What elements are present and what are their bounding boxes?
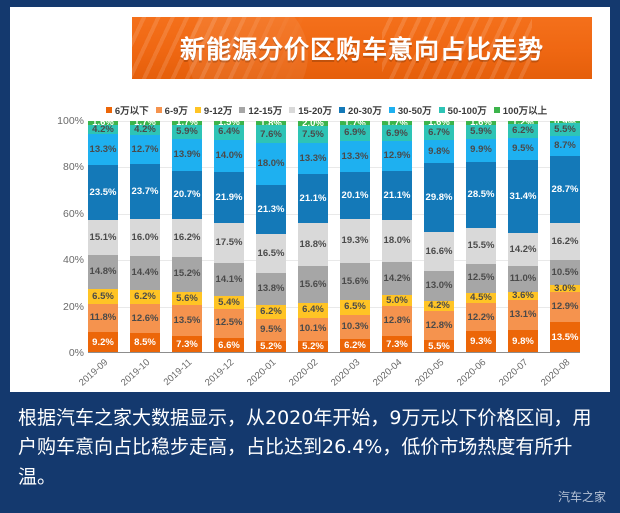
- stacked-bars: 9.2%11.8%6.5%14.8%15.1%23.5%13.3%4.2%1.6…: [88, 121, 580, 353]
- bar-segment[interactable]: 13.1%: [508, 300, 538, 330]
- bar-segment[interactable]: 5.0%: [382, 295, 412, 307]
- bar-segment[interactable]: 23.5%: [88, 165, 118, 220]
- bar-segment[interactable]: 12.7%: [130, 135, 160, 164]
- x-axis-tick: 2019-10: [130, 355, 160, 399]
- bar-segment[interactable]: 13.3%: [88, 134, 118, 165]
- watermark-label: 汽车之家: [558, 488, 606, 505]
- bar-segment[interactable]: 18.8%: [298, 223, 328, 267]
- legend-item[interactable]: 30-50万: [389, 103, 432, 117]
- bar-segment[interactable]: 4.2%: [424, 301, 454, 311]
- bar-segment[interactable]: 14.2%: [382, 262, 412, 295]
- legend-item[interactable]: 15-20万: [289, 103, 332, 117]
- legend-swatch-icon: [389, 107, 395, 113]
- bar-segment[interactable]: 14.0%: [214, 140, 244, 172]
- bar-segment[interactable]: 13.5%: [172, 305, 202, 336]
- x-axis-tick: 2019-09: [88, 355, 118, 399]
- legend-item[interactable]: 9-12万: [195, 103, 233, 117]
- x-axis-labels: 2019-092019-102019-112019-122020-012020-…: [88, 355, 580, 399]
- bar-segment[interactable]: 9.2%: [88, 332, 118, 353]
- legend-item[interactable]: 100万以上: [494, 103, 547, 117]
- bar-segment[interactable]: 21.3%: [256, 185, 286, 234]
- legend-swatch-icon: [106, 107, 112, 113]
- legend-item-label: 9-12万: [204, 103, 233, 117]
- bar-segment[interactable]: 12.9%: [550, 292, 580, 322]
- y-axis-tick-label: 100%: [57, 115, 84, 127]
- y-axis-tick-label: 20%: [63, 301, 84, 313]
- bar-segment[interactable]: 16.2%: [550, 223, 580, 261]
- legend-item-label: 12-15万: [248, 103, 282, 117]
- bar-segment[interactable]: 6.7%: [424, 125, 454, 141]
- x-axis-tick-label: 2020-07: [497, 357, 530, 389]
- bar-segment[interactable]: 29.8%: [424, 163, 454, 232]
- bar-segment[interactable]: 18.0%: [256, 143, 286, 185]
- bar-segment[interactable]: 6.5%: [88, 289, 118, 304]
- bar-segment[interactable]: 12.9%: [382, 141, 412, 171]
- bar-segment[interactable]: 7.6%: [256, 125, 286, 143]
- legend-item-label: 15-20万: [298, 103, 332, 117]
- legend-swatch-icon: [239, 107, 245, 113]
- infographic-page: 新能源分价区购车意向占比走势 6万以下6-9万9-12万12-15万15-20万…: [0, 0, 620, 513]
- bar-segment[interactable]: 7.5%: [298, 126, 328, 143]
- bar-column[interactable]: 9.2%11.8%6.5%14.8%15.1%23.5%13.3%4.2%1.6…: [88, 121, 118, 353]
- x-axis-tick: 2020-03: [340, 355, 370, 399]
- bar-segment[interactable]: 9.9%: [466, 139, 496, 162]
- bar-column[interactable]: 13.5%12.9%3.0%10.5%16.2%28.7%8.7%5.5%0.9…: [550, 121, 580, 353]
- plot-area: 9.2%11.8%6.5%14.8%15.1%23.5%13.3%4.2%1.6…: [88, 121, 580, 353]
- caption-text: 根据汽车之家大数据显示，从2020年开始，9万元以下价格区间，用户购车意向占比稳…: [18, 404, 603, 492]
- bar-segment[interactable]: 20.1%: [340, 172, 370, 219]
- bar-segment[interactable]: 6.9%: [340, 125, 370, 141]
- y-axis-tick-label: 0%: [69, 347, 84, 359]
- bar-segment[interactable]: 13.5%: [550, 322, 580, 353]
- x-axis-tick: 2020-04: [382, 355, 412, 399]
- x-axis-tick: 2020-02: [298, 355, 328, 399]
- bar-segment[interactable]: 12.8%: [382, 306, 412, 336]
- bar-segment[interactable]: 16.5%: [256, 234, 286, 272]
- bar-segment[interactable]: 15.1%: [88, 220, 118, 255]
- bar-segment[interactable]: 16.2%: [172, 219, 202, 257]
- bar-segment[interactable]: 12.8%: [424, 311, 454, 341]
- x-axis-tick-label: 2020-05: [413, 357, 446, 389]
- bar-segment[interactable]: 5.9%: [172, 125, 202, 139]
- bar-segment[interactable]: 12.2%: [466, 303, 496, 331]
- bar-segment[interactable]: 6.5%: [340, 300, 370, 315]
- bar-segment[interactable]: 4.5%: [466, 293, 496, 303]
- x-axis-tick-label: 2020-03: [329, 357, 362, 389]
- bar-segment[interactable]: 15.6%: [340, 263, 370, 299]
- bar-segment[interactable]: 23.7%: [130, 164, 160, 219]
- bar-column[interactable]: 5.5%12.8%4.2%13.0%16.6%29.8%9.8%6.7%1.6%: [424, 121, 454, 353]
- bar-segment[interactable]: 5.6%: [172, 292, 202, 305]
- x-axis-tick: 2019-11: [172, 355, 202, 399]
- legend-item[interactable]: 20-30万: [339, 103, 382, 117]
- bar-segment[interactable]: 11.8%: [88, 304, 118, 331]
- bar-segment[interactable]: 3.6%: [508, 292, 538, 300]
- x-axis-tick-label: 2019-09: [77, 357, 110, 389]
- legend-item-label: 6-9万: [165, 103, 188, 117]
- bar-segment[interactable]: 5.5%: [550, 123, 580, 136]
- bar-column[interactable]: 6.6%12.5%5.4%14.1%17.5%21.9%14.0%6.4%1.5…: [214, 121, 244, 353]
- legend-item-label: 6万以下: [115, 103, 149, 117]
- bar-segment[interactable]: 6.9%: [382, 125, 412, 141]
- x-axis-tick: 2020-05: [424, 355, 454, 399]
- bar-segment[interactable]: 12.5%: [466, 264, 496, 293]
- x-axis-line: [88, 352, 580, 354]
- bar-segment[interactable]: 6.2%: [256, 305, 286, 319]
- bar-segment[interactable]: 10.5%: [550, 260, 580, 284]
- bar-segment[interactable]: 8.5%: [130, 333, 160, 353]
- bar-segment[interactable]: 7.3%: [172, 336, 202, 353]
- x-axis-tick-label: 2019-12: [203, 357, 236, 389]
- legend-swatch-icon: [439, 107, 445, 113]
- bar-segment[interactable]: 15.2%: [172, 257, 202, 292]
- y-axis-labels: 0%20%40%60%80%100%: [46, 115, 84, 353]
- bar-column[interactable]: 7.3%13.5%5.6%15.2%16.2%20.7%13.9%5.9%1.7…: [172, 121, 202, 353]
- bar-segment[interactable]: 9.3%: [466, 331, 496, 353]
- x-axis-tick: 2020-08: [550, 355, 580, 399]
- bar-column[interactable]: 8.5%12.6%6.2%14.4%16.0%23.7%12.7%4.2%1.7…: [130, 121, 160, 353]
- bar-segment[interactable]: 9.8%: [424, 140, 454, 163]
- bar-segment[interactable]: 4.2%: [88, 125, 118, 135]
- bar-segment[interactable]: 9.5%: [256, 319, 286, 341]
- legend-item-label: 30-50万: [398, 103, 432, 117]
- x-axis-tick: 2020-07: [508, 355, 538, 399]
- bar-column[interactable]: 5.2%10.1%6.4%15.6%18.8%21.1%13.3%7.5%2.0…: [298, 121, 328, 353]
- x-axis-tick-label: 2020-04: [371, 357, 404, 389]
- bar-segment[interactable]: 6.4%: [298, 303, 328, 318]
- chart-card: 新能源分价区购车意向占比走势 6万以下6-9万9-12万12-15万15-20万…: [10, 7, 610, 392]
- bar-segment[interactable]: 13.9%: [172, 139, 202, 171]
- bar-segment[interactable]: 14.1%: [214, 263, 244, 296]
- bar-segment[interactable]: 14.4%: [130, 256, 160, 289]
- bar-segment[interactable]: 31.4%: [508, 160, 538, 233]
- bar-column[interactable]: 7.3%12.8%5.0%14.2%18.0%21.1%12.9%6.9%1.7…: [382, 121, 412, 353]
- x-axis-tick-label: 2020-02: [287, 357, 320, 389]
- bar-segment[interactable]: 13.0%: [424, 271, 454, 301]
- bar-column[interactable]: 9.8%13.1%3.6%11.0%14.2%31.4%9.5%6.2%1.2%: [508, 121, 538, 353]
- bar-segment[interactable]: 11.0%: [508, 266, 538, 292]
- bar-segment[interactable]: 14.2%: [508, 233, 538, 266]
- bar-segment[interactable]: 8.7%: [550, 136, 580, 156]
- bar-segment[interactable]: 10.1%: [298, 318, 328, 341]
- bar-column[interactable]: 9.3%12.2%4.5%12.5%15.5%28.5%9.9%5.9%1.6%: [466, 121, 496, 353]
- bar-segment[interactable]: 5.9%: [466, 125, 496, 139]
- bar-segment[interactable]: 21.1%: [298, 174, 328, 223]
- bar-segment[interactable]: 12.5%: [214, 309, 244, 338]
- bar-column[interactable]: 5.2%9.5%6.2%13.8%16.5%21.3%18.0%7.6%1.8%: [256, 121, 286, 353]
- bar-segment[interactable]: 16.6%: [424, 232, 454, 271]
- bar-segment[interactable]: 6.2%: [130, 290, 160, 304]
- y-axis-tick-label: 40%: [63, 254, 84, 266]
- x-axis-tick: 2020-06: [466, 355, 496, 399]
- bar-segment[interactable]: 4.2%: [130, 125, 160, 135]
- legend-item-label: 20-30万: [348, 103, 382, 117]
- bar-segment[interactable]: 13.3%: [298, 143, 328, 174]
- legend-swatch-icon: [195, 107, 201, 113]
- bar-segment[interactable]: 10.3%: [340, 315, 370, 339]
- title-banner: 新能源分价区购车意向占比走势: [132, 17, 592, 79]
- x-axis-tick-label: 2020-06: [455, 357, 488, 389]
- page-title: 新能源分价区购车意向占比走势: [132, 17, 592, 79]
- bar-segment[interactable]: 18.0%: [382, 220, 412, 262]
- bar-segment[interactable]: 3.0%: [550, 285, 580, 292]
- bar-segment[interactable]: 13.8%: [256, 273, 286, 305]
- bar-segment[interactable]: 9.8%: [508, 330, 538, 353]
- bar-segment[interactable]: 9.5%: [508, 138, 538, 160]
- y-axis-tick-label: 80%: [63, 161, 84, 173]
- bar-segment[interactable]: 19.3%: [340, 219, 370, 264]
- x-axis-tick-label: 2019-11: [162, 357, 195, 388]
- bar-segment[interactable]: 21.9%: [214, 172, 244, 223]
- legend-item-label: 100万以上: [503, 103, 547, 117]
- bar-segment[interactable]: 15.6%: [298, 266, 328, 302]
- bar-segment[interactable]: 7.3%: [382, 336, 412, 353]
- chart-legend: 6万以下6-9万9-12万12-15万15-20万20-30万30-50万50-…: [74, 103, 579, 117]
- bar-segment[interactable]: 13.3%: [340, 141, 370, 172]
- y-axis-tick-label: 60%: [63, 208, 84, 220]
- bar-column[interactable]: 6.2%10.3%6.5%15.6%19.3%20.1%13.3%6.9%1.7…: [340, 121, 370, 353]
- bar-segment[interactable]: 17.5%: [214, 223, 244, 264]
- bar-segment[interactable]: 12.6%: [130, 304, 160, 333]
- x-axis-tick: 2019-12: [214, 355, 244, 399]
- legend-item[interactable]: 6-9万: [156, 103, 188, 117]
- legend-item-label: 50-100万: [448, 103, 487, 117]
- bar-segment[interactable]: 28.7%: [550, 156, 580, 223]
- x-axis-tick-label: 2020-01: [245, 357, 278, 389]
- bar-segment[interactable]: 6.2%: [508, 124, 538, 138]
- legend-swatch-icon: [494, 107, 500, 113]
- bar-segment[interactable]: 28.5%: [466, 162, 496, 228]
- legend-swatch-icon: [289, 107, 295, 113]
- legend-item[interactable]: 50-100万: [439, 103, 487, 117]
- legend-swatch-icon: [339, 107, 345, 113]
- bar-segment[interactable]: 14.8%: [88, 255, 118, 289]
- legend-item[interactable]: 12-15万: [239, 103, 282, 117]
- bar-segment[interactable]: 16.0%: [130, 219, 160, 256]
- legend-swatch-icon: [156, 107, 162, 113]
- x-axis-tick-label: 2020-08: [539, 357, 572, 389]
- bar-segment[interactable]: 20.7%: [172, 171, 202, 219]
- x-axis-tick-label: 2019-10: [119, 357, 152, 389]
- bar-segment[interactable]: 5.4%: [214, 296, 244, 309]
- legend-item[interactable]: 6万以下: [106, 103, 149, 117]
- bar-segment[interactable]: 6.4%: [214, 125, 244, 140]
- bar-segment[interactable]: 15.5%: [466, 228, 496, 264]
- bar-segment[interactable]: 21.1%: [382, 171, 412, 220]
- x-axis-tick: 2020-01: [256, 355, 286, 399]
